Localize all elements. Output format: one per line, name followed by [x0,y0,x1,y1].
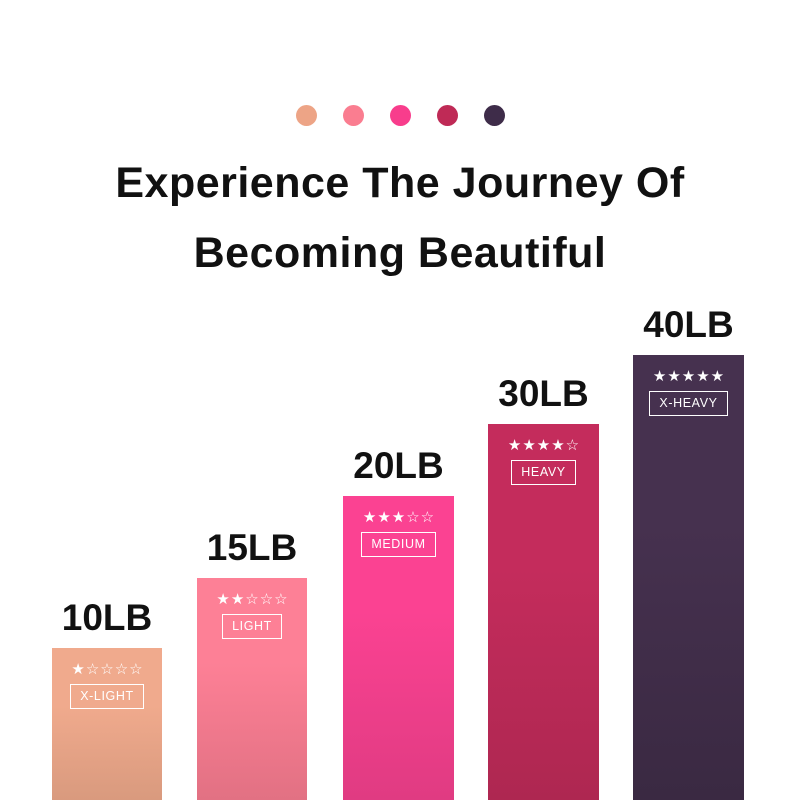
star-filled-icon: ★ [667,369,680,384]
bar-heavy[interactable]: 30LB★★★★☆HEAVY [488,424,599,800]
star-filled-icon: ★ [392,510,405,525]
star-filled-icon: ★ [522,438,535,453]
bar-badge: ★★★★☆HEAVY [488,438,599,485]
bar-value-label: 10LB [62,597,152,639]
bar-badge: ★★★★★X-HEAVY [633,369,744,416]
rating-stars: ★★★★☆ [508,438,579,453]
star-filled-icon: ★ [682,369,695,384]
star-filled-icon: ★ [508,438,521,453]
star-empty-icon: ☆ [129,662,142,677]
bar-badge: ★★★☆☆MEDIUM [343,510,454,557]
rating-stars: ★★★★★ [653,369,724,384]
tier-label: HEAVY [511,460,575,485]
star-empty-icon: ☆ [566,438,579,453]
bar-value-label: 40LB [643,304,733,346]
rating-stars: ★★☆☆☆ [216,592,287,607]
product-infographic: Experience The Journey Of Becoming Beaut… [0,0,800,800]
bar-badge: ★☆☆☆☆X-LIGHT [52,662,162,709]
bar-fill: ★☆☆☆☆X-LIGHT [52,648,162,800]
tier-label: MEDIUM [361,532,435,557]
star-filled-icon: ★ [377,510,390,525]
bar-fill: ★★★★★X-HEAVY [633,355,744,800]
star-filled-icon: ★ [653,369,666,384]
tier-label: LIGHT [222,614,282,639]
bar-light[interactable]: 15LB★★☆☆☆LIGHT [197,578,307,800]
tier-label: X-HEAVY [649,391,727,416]
rating-stars: ★★★☆☆ [363,510,434,525]
star-filled-icon: ★ [216,592,229,607]
star-filled-icon: ★ [71,662,84,677]
bar-fill: ★★★★☆HEAVY [488,424,599,800]
star-filled-icon: ★ [711,369,724,384]
star-filled-icon: ★ [363,510,376,525]
star-empty-icon: ☆ [245,592,258,607]
bar-x-heavy[interactable]: 40LB★★★★★X-HEAVY [633,355,744,800]
bar-value-label: 15LB [207,527,297,569]
bar-value-label: 20LB [353,445,443,487]
star-empty-icon: ☆ [115,662,128,677]
star-empty-icon: ☆ [260,592,273,607]
bar-badge: ★★☆☆☆LIGHT [197,592,307,639]
bar-medium[interactable]: 20LB★★★☆☆MEDIUM [343,496,454,800]
star-empty-icon: ☆ [274,592,287,607]
bar-fill: ★★★☆☆MEDIUM [343,496,454,800]
star-empty-icon: ☆ [421,510,434,525]
star-empty-icon: ☆ [406,510,419,525]
star-filled-icon: ★ [231,592,244,607]
bar-value-label: 30LB [498,373,588,415]
bar-fill: ★★☆☆☆LIGHT [197,578,307,800]
star-filled-icon: ★ [696,369,709,384]
rating-stars: ★☆☆☆☆ [71,662,142,677]
bar-x-light[interactable]: 10LB★☆☆☆☆X-LIGHT [52,648,162,800]
star-filled-icon: ★ [551,438,564,453]
star-empty-icon: ☆ [86,662,99,677]
resistance-band-bar-chart: 10LB★☆☆☆☆X-LIGHT15LB★★☆☆☆LIGHT20LB★★★☆☆M… [0,0,800,800]
tier-label: X-LIGHT [70,684,144,709]
star-filled-icon: ★ [537,438,550,453]
star-empty-icon: ☆ [100,662,113,677]
